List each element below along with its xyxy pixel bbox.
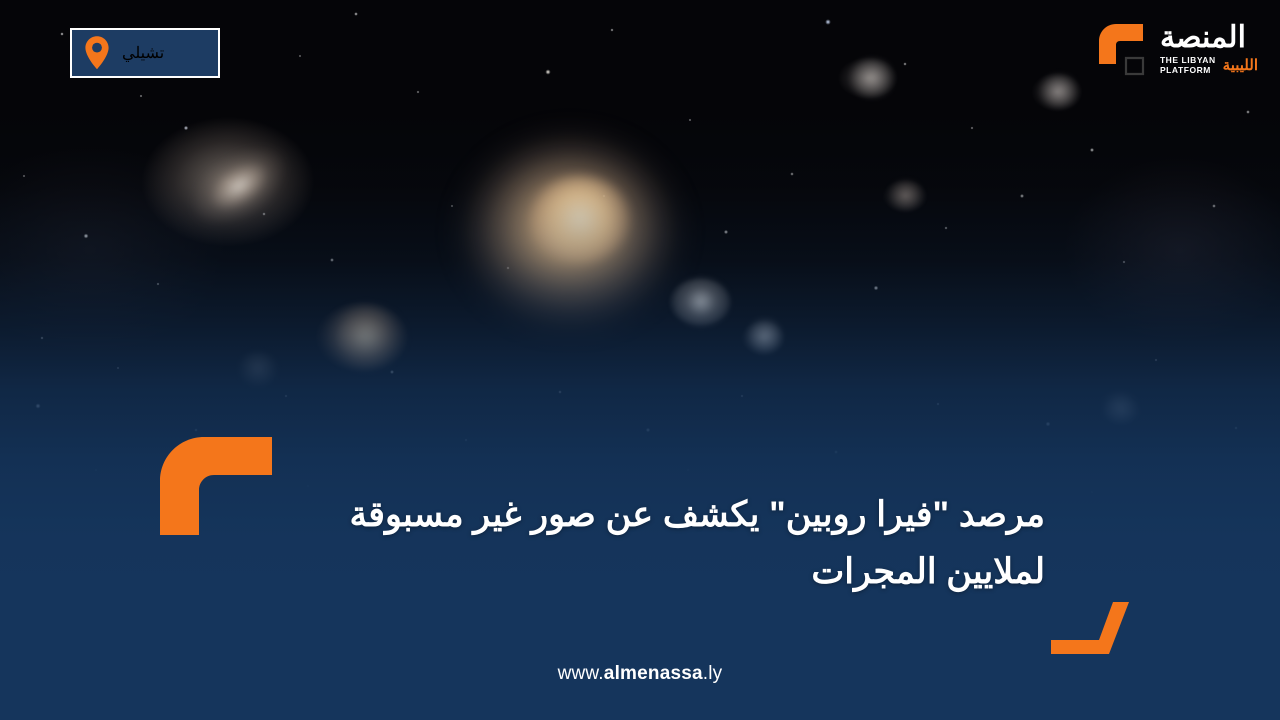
map-pin-icon [82, 35, 112, 71]
site-url-prefix: www. [558, 663, 604, 684]
news-card: تشيلي المنصة الليبية THE LIBYANPLATFORM … [0, 0, 1280, 720]
brand-name-arabic: المنصة [1160, 23, 1246, 53]
brand-mark-icon [1090, 18, 1152, 80]
brand-qualifier-arabic: الليبية [1223, 58, 1258, 73]
headline-line-2: لملايين المجرات [233, 543, 1045, 600]
location-badge[interactable]: تشيلي [70, 28, 220, 78]
brand-subtitle-row: الليبية THE LIBYANPLATFORM [1160, 55, 1258, 75]
site-url[interactable]: www.almenassa.ly [0, 663, 1280, 685]
brand-en-line2: PLATFORM [1160, 65, 1211, 75]
brand-wordmark: المنصة الليبية THE LIBYANPLATFORM [1160, 23, 1258, 75]
brand-logo[interactable]: المنصة الليبية THE LIBYANPLATFORM [1090, 18, 1258, 80]
orange-corner-bracket-icon [1051, 602, 1141, 664]
headline: مرصد "فيرا روبين" يكشف عن صور غير مسبوقة… [233, 486, 1045, 601]
brand-name-english: THE LIBYANPLATFORM [1160, 55, 1216, 75]
brand-en-line1: THE LIBYAN [1160, 55, 1216, 65]
location-badge-label: تشيلي [122, 43, 164, 63]
site-url-suffix: .ly [703, 663, 723, 684]
headline-line-1: مرصد "فيرا روبين" يكشف عن صور غير مسبوقة [349, 495, 1045, 534]
site-url-brand: almenassa [604, 663, 703, 684]
